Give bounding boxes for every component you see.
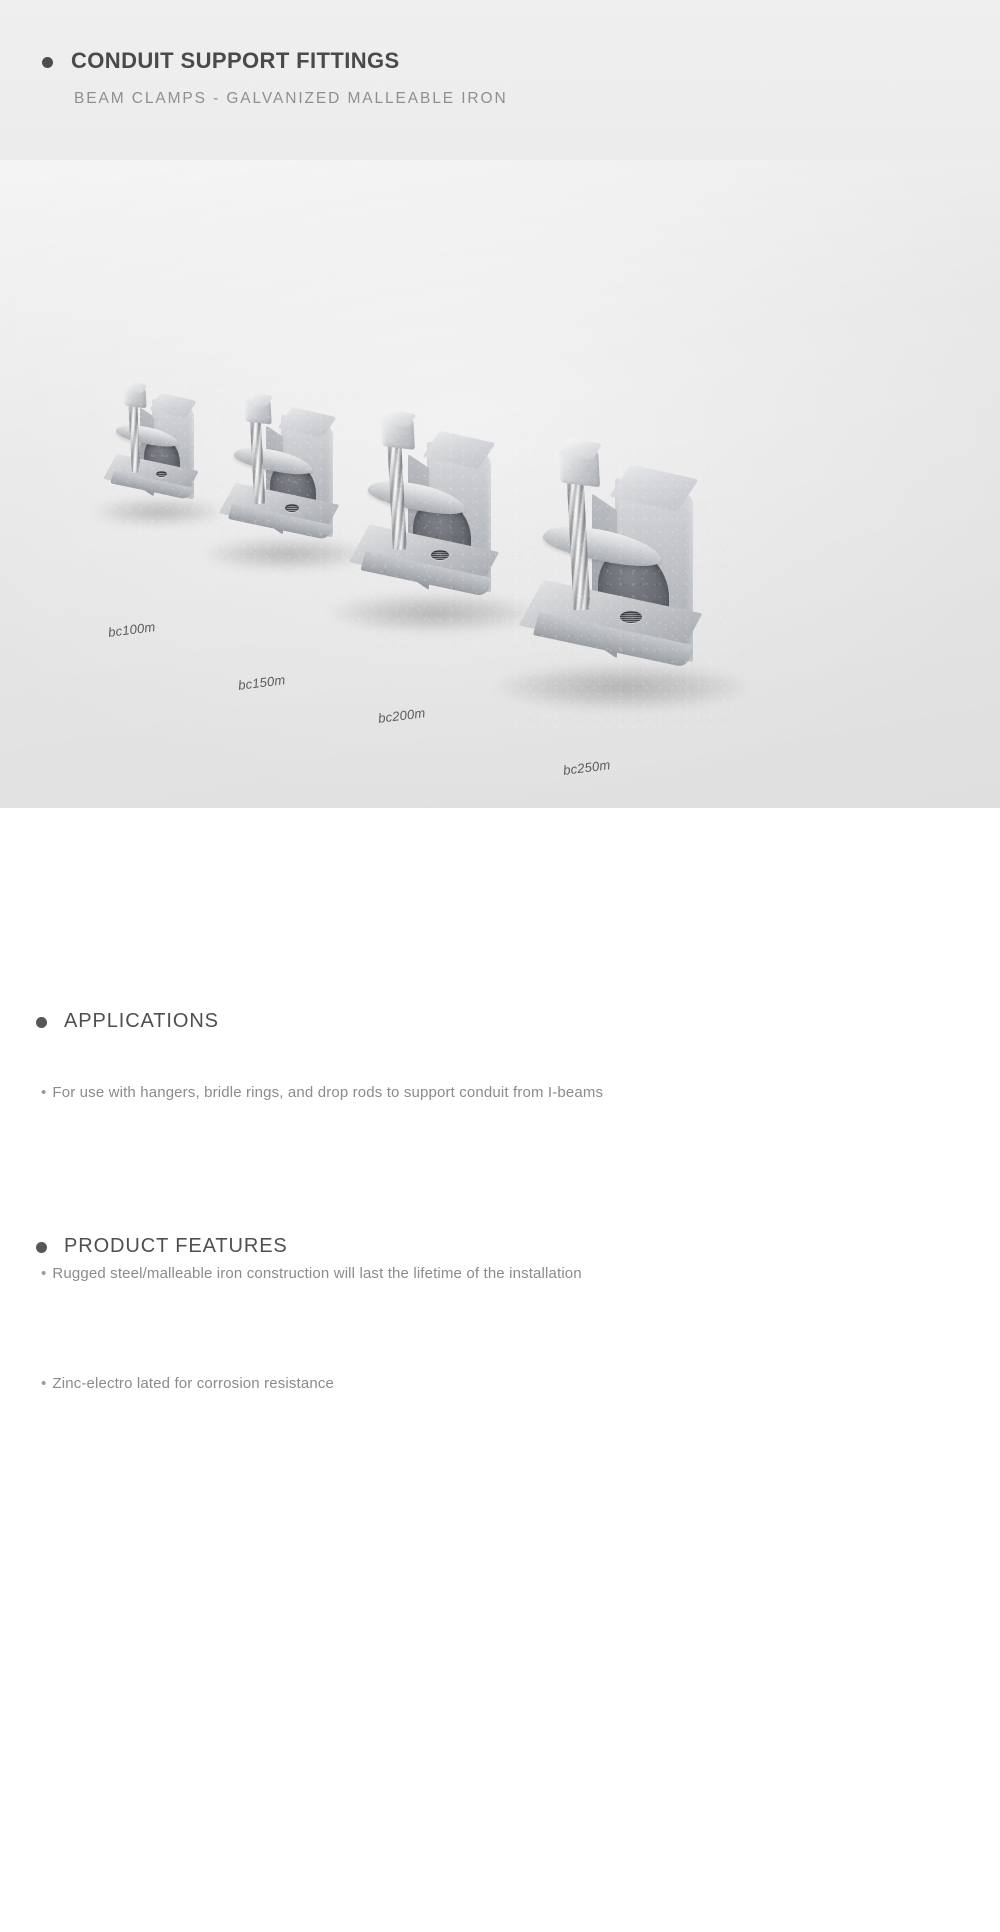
product-label-bc150m: bc150m xyxy=(237,672,286,693)
features-item: •Rugged steel/malleable iron constructio… xyxy=(41,1265,582,1282)
applications-item: •For use with hangers, bridle rings, and… xyxy=(41,1084,603,1101)
beam-clamp-render xyxy=(515,438,740,728)
bullet-dot-icon xyxy=(36,1242,47,1253)
product-label-bc100m: bc100m xyxy=(107,619,156,640)
clamp-thread-hole xyxy=(285,504,299,512)
features-item: •Zinc-electro lated for corrosion resist… xyxy=(41,1375,334,1392)
beam-clamp-render xyxy=(100,375,220,535)
clamp-thread-hole xyxy=(156,471,167,477)
features-heading: PRODUCT FEATURES xyxy=(64,1235,288,1258)
features-item-text: Rugged steel/malleable iron construction… xyxy=(52,1265,581,1282)
bullet-dot-icon xyxy=(42,57,53,68)
product-image-bc200m xyxy=(345,408,530,648)
list-bullet-icon: • xyxy=(41,1375,46,1392)
page-subtitle: BEAM CLAMPS - GALVANIZED MALLEABLE IRON xyxy=(74,90,508,108)
product-image-bc250m xyxy=(515,438,740,728)
header-band: CONDUIT SUPPORT FITTINGS BEAM CLAMPS - G… xyxy=(0,0,1000,160)
page-title-row: CONDUIT SUPPORT FITTINGS xyxy=(42,48,400,74)
product-showcase: bc100m bc150m xyxy=(0,160,1000,808)
product-label-bc250m: bc250m xyxy=(562,757,611,778)
features-item-text: Zinc-electro lated for corrosion resista… xyxy=(52,1375,334,1392)
beam-clamp-render xyxy=(215,388,365,583)
clamp-thread-hole xyxy=(620,611,642,623)
product-image-bc100m xyxy=(100,375,220,535)
bullet-dot-icon xyxy=(36,1017,47,1028)
product-spec-page: CONDUIT SUPPORT FITTINGS BEAM CLAMPS - G… xyxy=(0,0,1000,1932)
beam-clamp-render xyxy=(345,408,530,648)
applications-item-text: For use with hangers, bridle rings, and … xyxy=(52,1084,603,1101)
applications-heading: APPLICATIONS xyxy=(64,1010,219,1033)
product-label-bc200m: bc200m xyxy=(377,705,426,726)
applications-heading-row: APPLICATIONS xyxy=(36,1010,219,1033)
features-heading-row: PRODUCT FEATURES xyxy=(36,1235,288,1258)
product-image-bc150m xyxy=(215,388,365,583)
page-title: CONDUIT SUPPORT FITTINGS xyxy=(71,48,400,74)
list-bullet-icon: • xyxy=(41,1265,46,1282)
list-bullet-icon: • xyxy=(41,1084,46,1101)
clamp-thread-hole xyxy=(431,550,449,560)
